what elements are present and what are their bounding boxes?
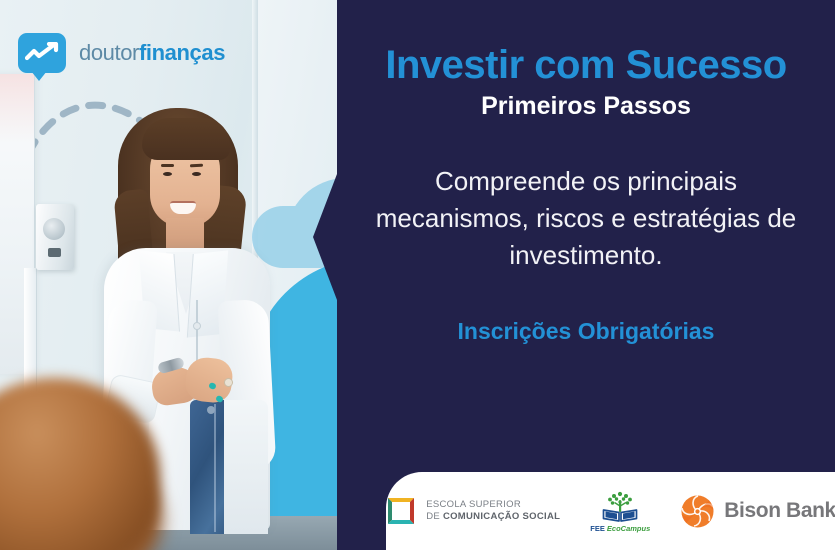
partner-logos-card: ESCOLA SUPERIOR DE COMUNICAÇÃO SOCIAL (386, 472, 835, 550)
promo-content: Investir com Sucesso Primeiros Passos Co… (337, 0, 835, 550)
bison-swirl-icon (680, 494, 715, 529)
eyebrow-left (161, 164, 174, 167)
partner-logo-fee-ecocampus[interactable]: FEE EcoCampus (590, 490, 650, 533)
escs-wordmark: ESCOLA SUPERIOR DE COMUNICAÇÃO SOCIAL (426, 499, 560, 522)
eco-text-campus: EcoCampus (607, 524, 650, 533)
eye-right (192, 172, 201, 176)
presenter-photo (0, 0, 345, 550)
page-title: Investir com Sucesso (337, 0, 835, 86)
coat-button-upper (193, 322, 201, 330)
partner-logo-escs[interactable]: ESCOLA SUPERIOR DE COMUNICAÇÃO SOCIAL (385, 495, 560, 527)
eco-text-fee: FEE (590, 524, 607, 533)
partner-logo-bison-bank[interactable]: Bison Bank (680, 494, 835, 529)
doutor-financas-wordmark: doutorfinanças (79, 40, 225, 66)
escs-line-2-strong: COMUNICAÇÃO SOCIAL (443, 511, 560, 522)
description-text: Compreende os principais mecanismos, ris… (337, 121, 835, 274)
hair-fringe (142, 118, 230, 160)
coat-front-panel (224, 400, 268, 534)
registration-notice: Inscrições Obrigatórias (337, 274, 835, 345)
ecocampus-wordmark: FEE EcoCampus (590, 524, 650, 533)
wordmark-financas: finanças (139, 40, 225, 65)
speech-bubble-chart-icon (18, 33, 66, 73)
wordmark-doutor: doutor (79, 40, 139, 65)
promo-banner: doutorfinanças Investir com Sucesso Prim… (0, 0, 835, 550)
page-subtitle: Primeiros Passos (337, 92, 835, 121)
ring (224, 378, 233, 387)
escs-square-mark (385, 495, 417, 527)
jeans-seam (214, 404, 216, 532)
bison-bank-wordmark: Bison Bank (724, 499, 835, 523)
escs-line-2-prefix: DE (426, 511, 443, 522)
escs-line-1: ESCOLA SUPERIOR (426, 499, 521, 510)
doutor-financas-logo[interactable]: doutorfinanças (18, 33, 225, 73)
tree-book-icon (601, 490, 639, 523)
jeans-button (207, 406, 215, 414)
eye-left (163, 172, 172, 176)
